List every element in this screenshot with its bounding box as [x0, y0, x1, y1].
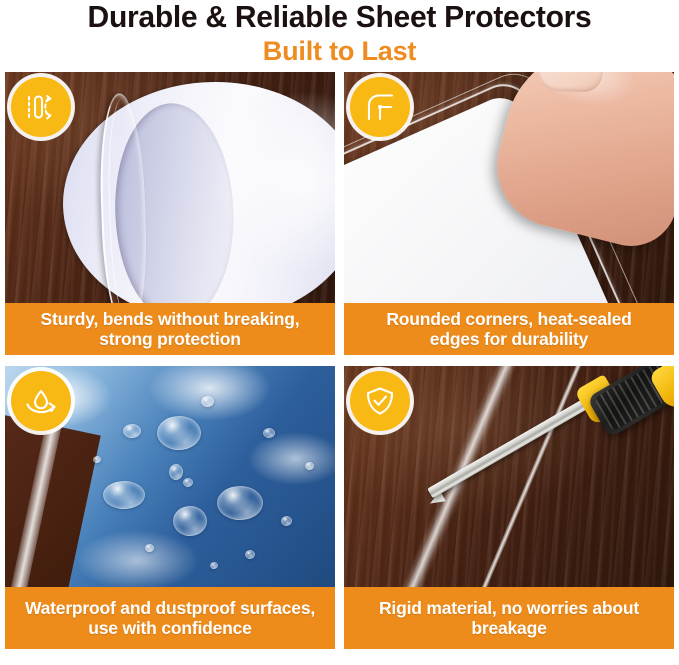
caption-text: Rigid material, no worries aboutbreakage	[379, 598, 639, 639]
feature-caption-rigid: Rigid material, no worries aboutbreakage	[344, 587, 674, 649]
feature-photo-waterproof	[5, 366, 335, 587]
feature-caption-rounded-corners: Rounded corners, heat-sealededges for du…	[344, 303, 674, 355]
caption-text: Rounded corners, heat-sealededges for du…	[386, 309, 631, 350]
caption-text: Waterproof and dustproof surfaces,use wi…	[25, 598, 315, 639]
water-droplet	[157, 416, 201, 450]
water-droplet	[183, 478, 193, 487]
feature-panel-waterproof: Waterproof and dustproof surfaces,use wi…	[5, 366, 335, 649]
feature-panel-rigid: Rigid material, no worries aboutbreakage	[344, 366, 674, 649]
water-droplet	[217, 486, 263, 520]
water-droplet	[305, 462, 314, 470]
infographic-header: Durable & Reliable Sheet Protectors Buil…	[0, 0, 679, 67]
shield-check-icon	[350, 371, 410, 431]
water-droplet	[145, 544, 154, 552]
water-droplet	[210, 562, 218, 569]
water-droplet	[201, 396, 214, 407]
feature-photo-flexibility	[5, 72, 335, 303]
feature-panel-flexibility: Sturdy, bends without breaking,strong pr…	[5, 72, 335, 355]
feature-caption-flexibility: Sturdy, bends without breaking,strong pr…	[5, 303, 335, 355]
feature-photo-rounded-corners	[344, 72, 674, 303]
rounded-corner-radius-icon	[350, 77, 410, 137]
water-droplet-repel-icon	[11, 371, 71, 431]
page-subtitle: Built to Last	[0, 36, 679, 67]
water-droplet	[93, 456, 101, 463]
water-droplet	[245, 550, 255, 559]
feature-photo-rigid	[344, 366, 674, 587]
fingernail	[538, 72, 603, 93]
feature-panel-rounded-corners: Rounded corners, heat-sealededges for du…	[344, 72, 674, 355]
feature-panel-grid: Sturdy, bends without breaking,strong pr…	[0, 72, 679, 652]
sheet-surface-glare	[159, 91, 335, 303]
page-title: Durable & Reliable Sheet Protectors	[5, 1, 674, 33]
water-droplet	[169, 464, 183, 480]
water-droplet	[263, 428, 275, 438]
water-droplet	[123, 424, 141, 438]
water-droplet	[281, 516, 292, 526]
water-droplet	[173, 506, 207, 536]
water-droplet	[103, 481, 145, 509]
bending-sheet-icon	[11, 77, 71, 137]
feature-caption-waterproof: Waterproof and dustproof surfaces,use wi…	[5, 587, 335, 649]
caption-text: Sturdy, bends without breaking,strong pr…	[41, 309, 300, 350]
